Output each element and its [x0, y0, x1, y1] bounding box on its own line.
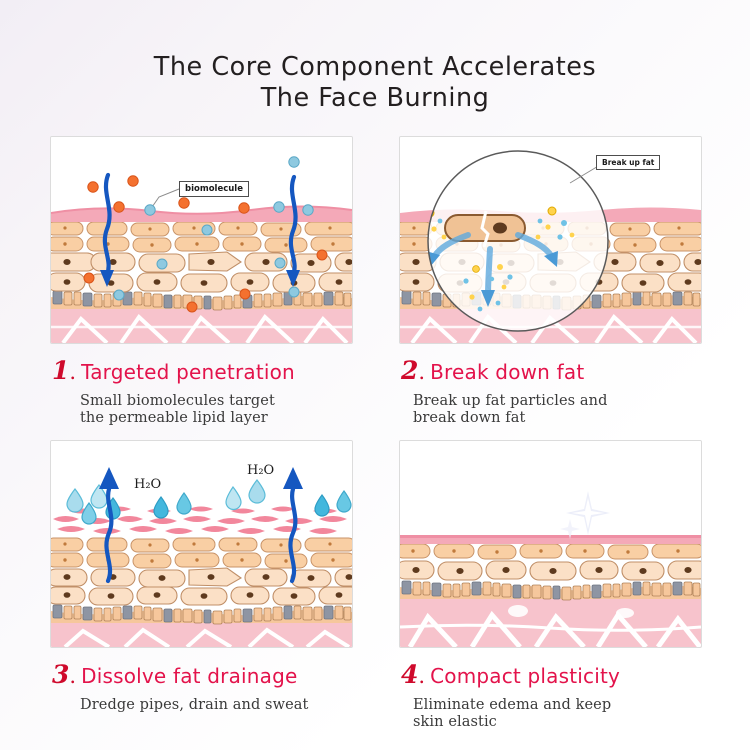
step-card-2: Break up fat 2 . Break down fat Break up…: [399, 136, 702, 427]
step-card-1: biomolecule 1 . Targeted penetration Sma…: [50, 136, 353, 427]
break-up-fat-label: Break up fat: [596, 155, 660, 170]
step-4-title: Compact plasticity: [430, 666, 620, 686]
diagram-targeted-penetration: biomolecule: [50, 136, 353, 344]
step-4-caption: Eliminate edema and keep skin elastic: [413, 697, 702, 731]
step-card-4: 4 . Compact plasticity Eliminate edema a…: [399, 440, 702, 731]
infographic-page: The Core Component Accelerates The Face …: [0, 0, 750, 750]
diagram-3-svg: [51, 441, 352, 647]
h2o-label-right: H₂O: [247, 463, 274, 478]
diagram-1-svg: [51, 137, 352, 343]
biomolecule-label: biomolecule: [179, 181, 249, 197]
diagram-break-down-fat: Break up fat: [399, 136, 702, 344]
step-1-title: Targeted penetration: [81, 362, 295, 382]
step-2-number: 2: [401, 358, 418, 383]
page-title: The Core Component Accelerates The Face …: [0, 52, 750, 114]
step-3-title: Dissolve fat drainage: [81, 666, 297, 686]
h2o-label-left: H₂O: [134, 477, 161, 492]
step-3-heading: 3 . Dissolve fat drainage: [52, 662, 353, 688]
step-3-caption: Dredge pipes, drain and sweat: [80, 697, 353, 714]
diagram-4-svg: [400, 441, 701, 647]
step-4-heading: 4 . Compact plasticity: [401, 662, 702, 688]
title-line-1: The Core Component Accelerates: [154, 52, 596, 82]
diagram-dissolve-fat-drainage: H₂O H₂O: [50, 440, 353, 648]
diagram-compact-plasticity: [399, 440, 702, 648]
step-3-number: 3: [52, 662, 69, 687]
step-1-caption: Small biomolecules target the permeable …: [80, 393, 353, 427]
step-4-number: 4: [401, 662, 418, 687]
step-2-heading: 2 . Break down fat: [401, 358, 702, 384]
step-3-dot: .: [69, 664, 76, 688]
step-4-dot: .: [418, 664, 425, 688]
step-2-dot: .: [418, 360, 425, 384]
step-1-dot: .: [69, 360, 76, 384]
title-line-2: The Face Burning: [0, 83, 750, 114]
step-2-title: Break down fat: [430, 362, 584, 382]
step-1-heading: 1 . Targeted penetration: [52, 358, 353, 384]
step-2-caption: Break up fat particles and break down fa…: [413, 393, 702, 427]
step-card-3: H₂O H₂O 3 . Dissolve fat drainage Dredge…: [50, 440, 353, 714]
step-1-number: 1: [52, 358, 69, 383]
